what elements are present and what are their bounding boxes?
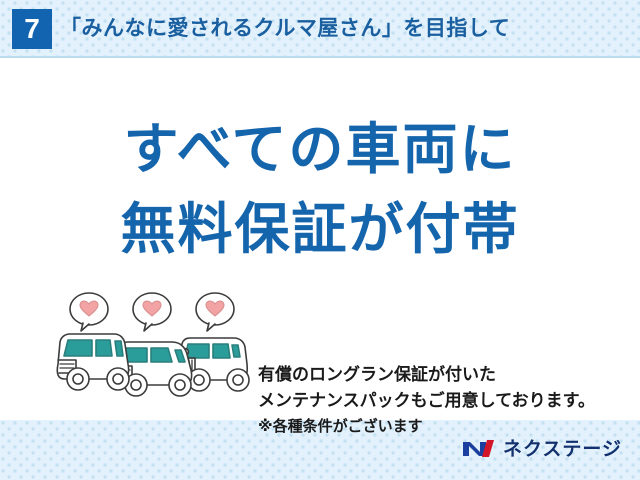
body-copy-line-2: メンテナンスパックもご用意しております。 — [258, 388, 595, 414]
body-copy-line-1: 有償のロングラン保証が付いた — [258, 362, 595, 388]
header-bar: 7 「みんなに愛されるクルマ屋さん」を目指して — [0, 0, 640, 58]
hero-heading-line-2: 無料保証が付帯 — [0, 184, 640, 264]
heart-bubble-3 — [196, 293, 234, 331]
cars-illustration-svg — [52, 290, 252, 410]
cars-illustration — [52, 290, 252, 415]
hero-heading-line-1: すべての車両に — [0, 104, 640, 184]
section-number-badge: 7 — [12, 9, 52, 49]
brand-name: ネクステージ — [503, 434, 622, 461]
promo-slide: 7 「みんなに愛されるクルマ屋さん」を目指して すべての車両に 無料保証が付帯 — [0, 0, 640, 480]
nexstage-n-logo-icon — [462, 436, 496, 460]
lower-section: 有償のロングラン保証が付いた メンテナンスパックもご用意しております。 ※各種条… — [0, 290, 640, 420]
heart-bubble-2 — [133, 293, 171, 331]
header-title: 「みんなに愛されるクルマ屋さん」を目指して — [60, 12, 510, 42]
car-wagon-left — [57, 334, 129, 390]
content-panel: すべての車両に 無料保証が付帯 — [0, 58, 640, 420]
brand-lockup: ネクステージ — [462, 434, 622, 461]
footer-bar: ネクステージ — [0, 420, 640, 480]
heart-bubble-1 — [70, 293, 108, 331]
